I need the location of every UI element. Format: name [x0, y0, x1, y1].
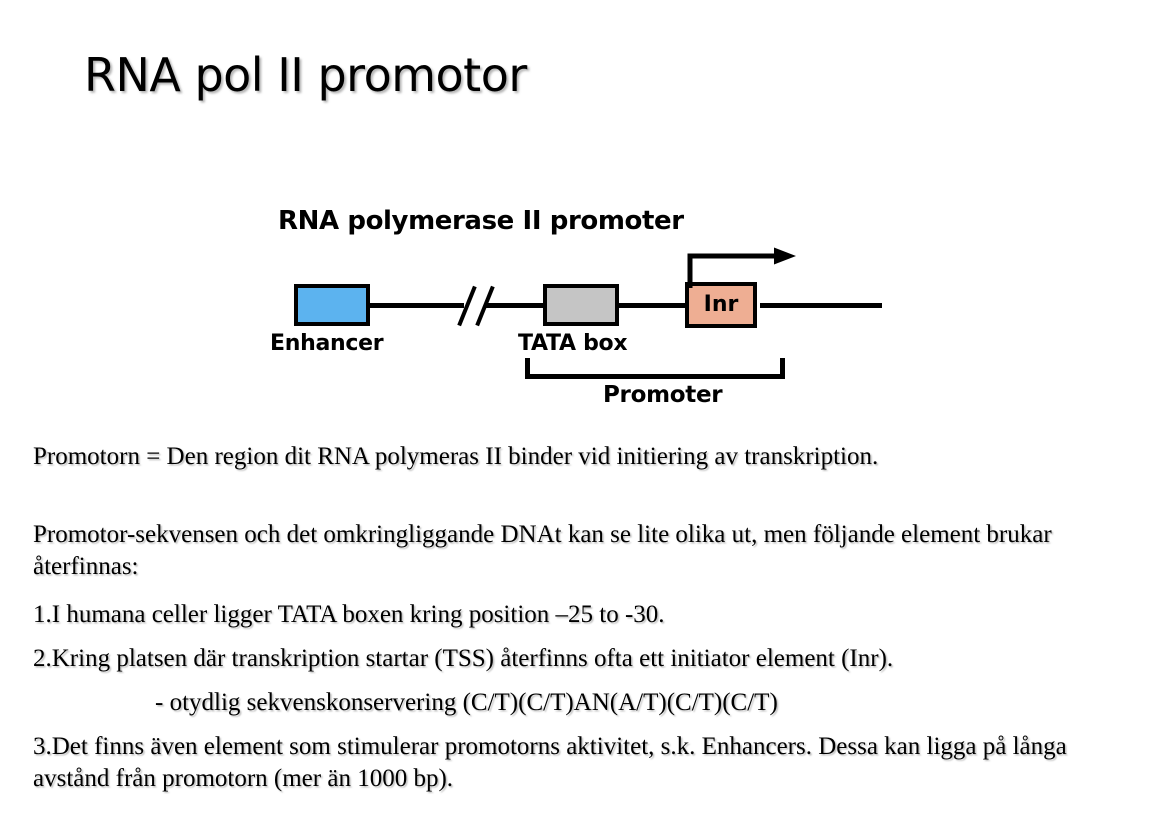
diagram-title: RNA polymerase II promoter	[278, 206, 684, 236]
list-item: 1.I humana celler ligger TATA boxen krin…	[33, 599, 1118, 631]
promoter-label: Promoter	[603, 382, 722, 408]
promoter-bracket	[525, 358, 785, 380]
list-item-sub: - otydlig sekvenskonservering (C/T)(C/T)…	[155, 687, 1118, 719]
bracket-bar	[525, 374, 785, 379]
list-item: 2.Kring platsen där transkription starta…	[33, 643, 1118, 675]
slide-body: Promotorn = Den region dit RNA polymeras…	[33, 441, 1118, 795]
intro-paragraph: Promotor-sekvensen och det omkringliggan…	[33, 519, 1118, 583]
tata-box	[543, 284, 619, 326]
dna-line-segment	[368, 303, 464, 308]
list-item: 3.Det finns även element som stimulerar …	[33, 731, 1118, 795]
enhancer-box	[294, 284, 370, 326]
dna-line-segment	[485, 303, 545, 308]
dna-line-segment	[760, 303, 882, 308]
tata-box-label: TATA box	[518, 331, 627, 356]
transcription-start-arrow-icon	[684, 246, 804, 290]
promoter-diagram: RNA polymerase II promoter Enhancer TATA…	[260, 200, 920, 420]
dna-line-segment	[615, 303, 687, 308]
page-title: RNA pol II promotor	[84, 48, 527, 102]
inr-label: Inr	[704, 294, 739, 316]
definition-paragraph: Promotorn = Den region dit RNA polymeras…	[33, 441, 1118, 473]
enhancer-label: Enhancer	[270, 331, 383, 356]
